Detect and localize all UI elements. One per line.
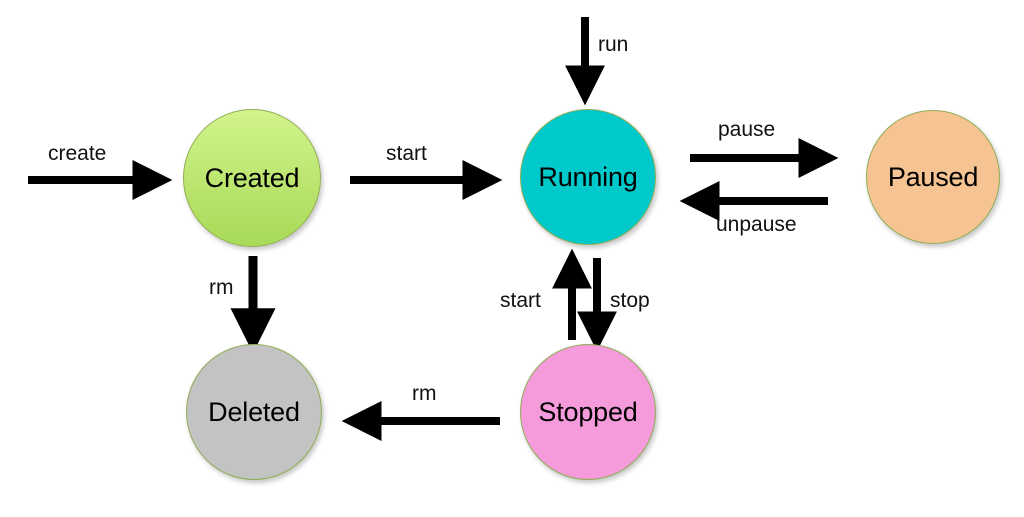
node-deleted[interactable]: Deleted xyxy=(186,344,322,480)
node-running-label: Running xyxy=(538,164,637,191)
node-created[interactable]: Created xyxy=(183,109,321,247)
edges-layer xyxy=(0,0,1024,517)
node-running[interactable]: Running xyxy=(520,109,656,245)
edge-label-create: create xyxy=(48,143,106,164)
edge-label-stop: stop xyxy=(610,290,650,311)
edge-label-rm-created-deleted: rm xyxy=(209,277,234,298)
node-stopped-label: Stopped xyxy=(538,399,637,426)
state-diagram: Created Running Paused Deleted Stopped c… xyxy=(0,0,1024,517)
node-created-label: Created xyxy=(205,165,300,192)
edge-label-pause: pause xyxy=(718,119,775,140)
edge-label-start-stopped-running: start xyxy=(500,290,541,311)
edge-label-unpause: unpause xyxy=(716,214,797,235)
edge-label-start-created-running: start xyxy=(386,143,427,164)
node-paused[interactable]: Paused xyxy=(866,110,1000,244)
edge-label-rm-stopped-deleted: rm xyxy=(412,383,437,404)
edge-label-run: run xyxy=(598,34,628,55)
node-deleted-label: Deleted xyxy=(208,399,300,426)
node-paused-label: Paused xyxy=(888,164,978,191)
node-stopped[interactable]: Stopped xyxy=(520,344,656,480)
